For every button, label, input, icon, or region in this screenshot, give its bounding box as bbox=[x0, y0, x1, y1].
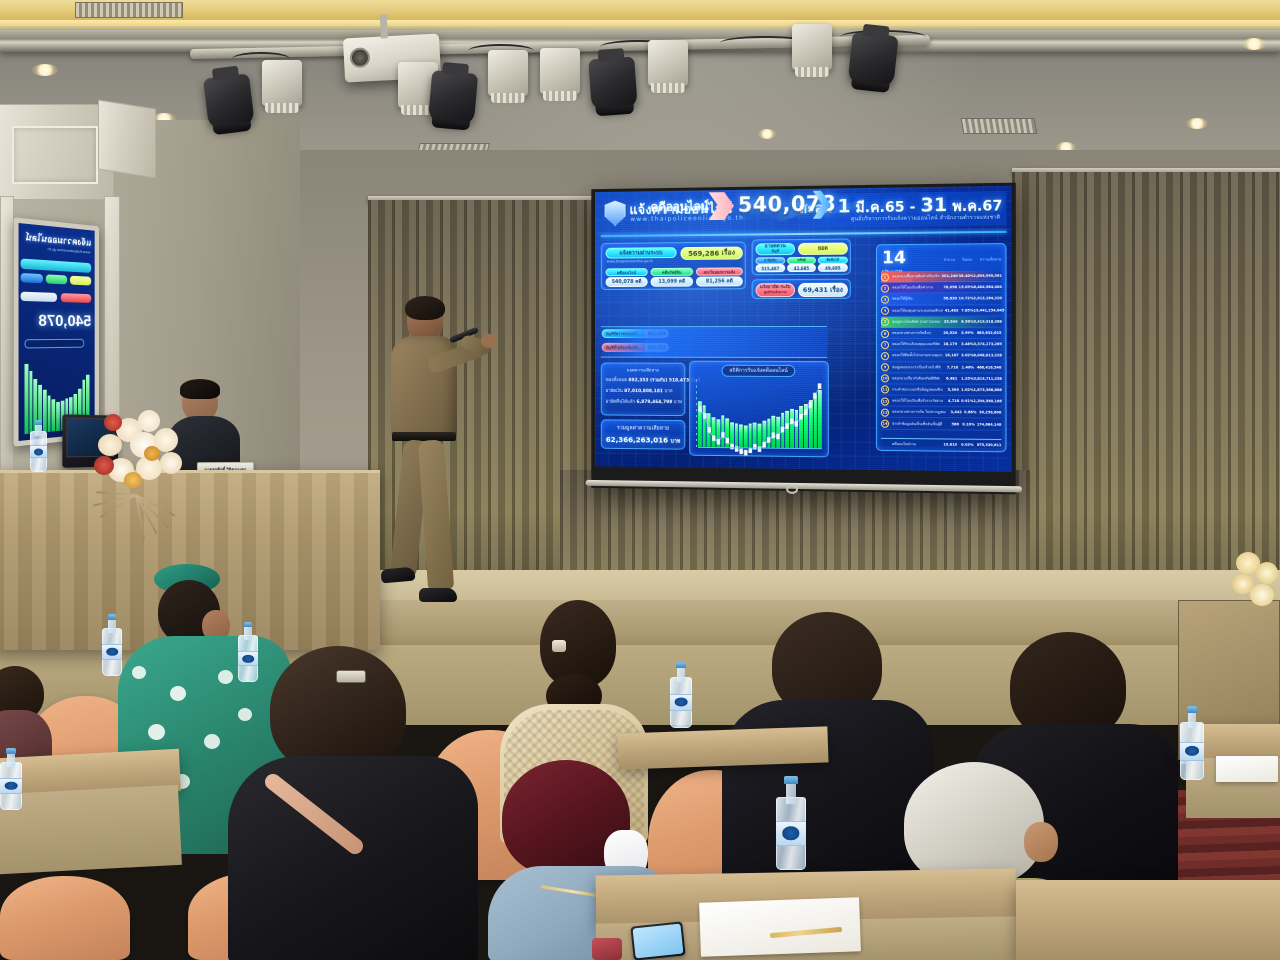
intake-sub-1-unit: คดี bbox=[679, 278, 685, 286]
bottle-cap bbox=[244, 622, 253, 627]
audience-table bbox=[617, 726, 828, 769]
bottle-logo-icon bbox=[675, 698, 688, 707]
projector-lens-icon bbox=[349, 47, 370, 68]
chart-marker bbox=[739, 449, 742, 455]
flower-petal-red bbox=[104, 414, 122, 431]
bottle-logo-icon bbox=[106, 648, 118, 656]
conference-room-scene: แจ้งความออนไลน์ www.thaipoliceonline.go.… bbox=[0, 0, 1280, 960]
chart-marker bbox=[795, 421, 798, 427]
category-count: 16,187 bbox=[943, 354, 959, 358]
category-row: 3หลอกให้กู้เงิน56,63910.72%2,013,164,220 bbox=[881, 293, 1001, 305]
dress-floral-print bbox=[132, 666, 146, 679]
summary-title: ยอดความเสียหาย bbox=[627, 367, 659, 374]
category-amount: 8,484,984,404 bbox=[974, 285, 1002, 289]
total-damage-value: 62,366,263,016 บาท bbox=[606, 435, 681, 446]
column-header-amount: ความเสียหาย bbox=[980, 256, 1001, 262]
category-row: 12หลอกให้โอนเงินเพื่อรับรางวัลผ่าน SMS4,… bbox=[881, 396, 1001, 408]
stage-light-fresnel bbox=[648, 40, 688, 86]
flower-petal-red bbox=[94, 456, 114, 475]
intake-label: แจ้งความผ่านระบบ bbox=[619, 249, 662, 257]
category-percent: 38.40% bbox=[958, 274, 974, 278]
category-amount: 90,256,608 bbox=[976, 411, 1001, 415]
category-index-badge: 14 bbox=[881, 420, 889, 428]
urgent-right-pill: ยอด bbox=[798, 243, 848, 255]
category-amount: 1,394,560,166 bbox=[974, 399, 1002, 403]
bottle-logo-icon bbox=[1185, 746, 1199, 756]
chart-marker bbox=[785, 423, 788, 429]
bottle-label bbox=[102, 644, 122, 660]
category-amount: 19,441,254,645 bbox=[974, 308, 1002, 312]
category-amount: 174,684,148 bbox=[975, 422, 1002, 426]
intake-sub-value-0: 540,078 คดี bbox=[606, 277, 648, 287]
chart-marker bbox=[790, 419, 793, 425]
category-row: 6หลอกลวงทางการเงินอื่นๆ20,5243.99%683,63… bbox=[881, 328, 1001, 339]
chart-marker bbox=[708, 427, 711, 433]
freeze-value-pill: 69,431 เรื่อง bbox=[798, 283, 848, 297]
category-name: หลอกลวงเกี่ยวกับสินทรัพย์ดิจิทัล bbox=[892, 375, 940, 381]
category-row: 13หลอกลวงทางการเงิน ไม่ปรากฏช่องทาง3,442… bbox=[881, 407, 1001, 419]
category-name: หลอกลวงซื้อขายสินค้าหรือบริการ bbox=[892, 273, 941, 279]
category-total-count: 19,819 bbox=[940, 442, 957, 446]
total-damage-number: 62,366,263,016 bbox=[606, 435, 668, 445]
category-row: 14นำเข้าข้อมูลอันเป็นเท็จอันเป็นผู้อื่น5… bbox=[881, 418, 1001, 430]
bottle-cap bbox=[676, 662, 686, 668]
urgent-row-1-label-text: ทรัพย์ bbox=[797, 258, 805, 263]
urgent-panel: อายัดด่วน บัญชี ยอด อายัดทัน 515,487 ทรั… bbox=[752, 238, 851, 275]
category-count: 6,481 bbox=[940, 376, 957, 380]
dateline-to-num: 31 bbox=[920, 194, 947, 217]
chart-marker bbox=[744, 450, 747, 456]
category-percent: 15.09% bbox=[957, 285, 973, 289]
category-percent: 6.56% bbox=[958, 320, 974, 324]
category-name: หลอกลวงทางการเงินอื่นๆ bbox=[892, 330, 940, 336]
bottle-neck bbox=[35, 423, 41, 435]
bottle-cap bbox=[35, 420, 42, 425]
category-percent: 3.48% bbox=[957, 342, 973, 346]
bottle-cap bbox=[108, 614, 117, 620]
bottle-label bbox=[30, 445, 47, 459]
summary-row-1-value: 87,010,808,181 bbox=[624, 389, 663, 394]
palm-frond bbox=[93, 494, 136, 507]
smartphone[interactable] bbox=[630, 921, 685, 960]
category-index-badge: 8 bbox=[881, 352, 889, 360]
category-index-badge: 9 bbox=[881, 363, 889, 371]
category-index-badge: 3 bbox=[881, 296, 889, 304]
bottle-label bbox=[670, 694, 692, 711]
flower-petal-yellow bbox=[124, 472, 142, 488]
category-row: 11กระทำต่อระบบหรือข้อมูลคอมพิวเตอร์5,304… bbox=[881, 384, 1001, 396]
bottle-logo-icon bbox=[782, 827, 799, 840]
chart-marker bbox=[712, 435, 715, 441]
presenter-leg-front bbox=[418, 439, 454, 590]
hair-pin-accessory bbox=[552, 640, 566, 652]
category-amount: 468,416,546 bbox=[974, 365, 1001, 369]
attendee-ear bbox=[1024, 822, 1058, 862]
summary-row-1-label: อายัดเงิน bbox=[606, 389, 623, 394]
category-index-badge: 11 bbox=[881, 386, 889, 394]
chart-marker bbox=[804, 409, 808, 415]
intake-sub-value-1: 13,099 คดี bbox=[651, 277, 694, 287]
category-percent: 10.72% bbox=[957, 297, 973, 301]
category-count: 41,483 bbox=[943, 308, 959, 312]
intake-sub-label-0: คดีออนไลน์ bbox=[606, 268, 648, 276]
urgent-row-2-value-text: 49,695 bbox=[825, 265, 840, 270]
bottle-logo-icon bbox=[34, 448, 44, 455]
category-percent: 0.66% bbox=[962, 411, 977, 415]
category-count: 566 bbox=[942, 422, 959, 426]
presenter-belt bbox=[392, 432, 456, 441]
category-total-amount: 875,330,611 bbox=[974, 443, 1002, 447]
chart-marker bbox=[767, 437, 770, 443]
headline-band bbox=[601, 326, 827, 358]
presenter-hair bbox=[405, 296, 445, 320]
chart-marker bbox=[808, 402, 812, 408]
category-row: 2หลอกให้โอนเงินเพื่อทำงาน78,09815.09%8,4… bbox=[881, 282, 1001, 294]
intake-sub-1-value: 13,099 bbox=[658, 279, 677, 285]
chart-marker bbox=[781, 427, 784, 433]
dateline-dash: - bbox=[910, 199, 916, 215]
dress-floral-print bbox=[148, 724, 165, 740]
chart-marker bbox=[698, 406, 701, 412]
audience-table-skirt bbox=[0, 785, 182, 875]
intake-url: www.thaipoliceonline.go.th bbox=[607, 259, 653, 263]
bottle-neck bbox=[108, 618, 115, 633]
summary-row-0: ของทั้งหมด 892,353 (รวมกับ) 518,473 บัญช… bbox=[606, 377, 701, 384]
water-bottle bbox=[238, 622, 258, 682]
category-name: หลอกให้กู้เงิน bbox=[892, 296, 940, 302]
ceiling-vent bbox=[961, 118, 1038, 134]
summary-row-2-unit: บาท bbox=[674, 400, 682, 405]
freeze-value: 69,431 bbox=[803, 286, 828, 294]
category-count: 56,639 bbox=[940, 297, 957, 301]
category-count: 78,098 bbox=[940, 285, 957, 289]
freeze-unit: เรื่อง bbox=[830, 285, 843, 295]
stage-light-fresnel bbox=[262, 60, 302, 106]
chart-marker bbox=[721, 432, 724, 438]
category-name: ข่มขู่ทางโทรศัพท์ (Call Center) bbox=[892, 319, 941, 325]
category-amount: 2,013,164,220 bbox=[974, 297, 1002, 301]
water-bottle bbox=[1180, 706, 1204, 780]
presentation-slide: แจ้งความออนไลน์ www.thaipoliceonline.go.… bbox=[595, 186, 1012, 472]
intake-value: 569,286 bbox=[688, 249, 719, 257]
red-case-item bbox=[592, 938, 622, 960]
bottle-neck bbox=[7, 752, 15, 767]
chart-marker-line bbox=[698, 380, 822, 472]
flower-petal bbox=[138, 410, 160, 432]
chart-marker bbox=[703, 413, 706, 419]
category-row: 8หลอกให้ติดตั้งโปรแกรมควบคุมระบบ16,1873.… bbox=[881, 350, 1001, 362]
head-table-attendee-hair bbox=[180, 379, 220, 399]
police-shield-icon bbox=[605, 200, 626, 226]
urgent-label-pill: อายัดด่วน บัญชี bbox=[756, 243, 795, 255]
urgent-row-2-value: 49,695 bbox=[818, 264, 848, 272]
urgent-row-0-value: 515,487 bbox=[756, 264, 786, 272]
slide-subline: ศูนย์บริหารการรับแจ้งความออนไลน์ สำนักงา… bbox=[851, 214, 1000, 224]
stage-light-par bbox=[588, 56, 638, 111]
category-name: นำเข้าข้อมูลอันเป็นเท็จอันเป็นผู้อื่น bbox=[892, 420, 942, 426]
column-header-pct: ร้อยละ bbox=[962, 257, 973, 263]
stage-light-par bbox=[428, 70, 478, 126]
category-count: 7,718 bbox=[941, 365, 958, 369]
water-bottle bbox=[30, 420, 47, 472]
dress-floral-print bbox=[170, 686, 186, 701]
audience-chair[interactable] bbox=[0, 876, 130, 960]
bottle-label bbox=[1180, 742, 1204, 761]
category-total-label: คดีออนไลน์รวม bbox=[892, 441, 940, 448]
stage-light-par bbox=[203, 73, 255, 130]
bottle-label bbox=[776, 821, 806, 845]
intake-sub-0-unit: คดี bbox=[635, 278, 641, 286]
category-total-row: คดีออนไลน์รวม 19,819 0.03% 875,330,611 bbox=[881, 438, 1001, 450]
dress-floral-print bbox=[204, 734, 220, 749]
category-amount: 683,632,625 bbox=[974, 331, 1002, 335]
category-percent: 7.85% bbox=[959, 308, 974, 312]
category-percent: 0.10% bbox=[959, 422, 975, 426]
downlight bbox=[758, 129, 776, 139]
category-rows: 1หลอกลวงซื้อขายสินค้าหรือบริการ201,24038… bbox=[881, 271, 1001, 437]
downlight bbox=[1242, 38, 1266, 50]
chart-marker bbox=[813, 393, 817, 399]
intake-value-pill: 569,286 เรื่อง bbox=[680, 247, 742, 260]
flower-petal bbox=[98, 434, 122, 456]
category-index-badge: 10 bbox=[881, 375, 889, 383]
intake-sub-label-1: คดีทรัพย์สิน bbox=[651, 268, 694, 276]
intake-sub-2-label: ยกเว้นนอกการแจ้ง bbox=[704, 268, 736, 275]
bottle-label bbox=[0, 778, 22, 794]
water-bottle bbox=[102, 614, 122, 676]
category-count: 35,549 bbox=[941, 320, 958, 324]
bottle-logo-icon bbox=[5, 782, 18, 790]
summary-row-2-value: 6,879,464,798 bbox=[637, 400, 673, 405]
intake-sub-0-value: 540,078 bbox=[612, 279, 634, 285]
attendee-hair bbox=[270, 646, 406, 774]
chart-marker bbox=[818, 383, 822, 389]
category-amount: 8,048,813,228 bbox=[974, 354, 1002, 358]
category-amount: 3,374,173,289 bbox=[974, 342, 1002, 346]
wall-column-return bbox=[98, 99, 156, 178]
stage-light-fresnel bbox=[488, 50, 528, 96]
category-percent: 1.46% bbox=[958, 365, 974, 369]
bottle-neck bbox=[244, 626, 251, 640]
urgent-row-0-label-text: อายัดทัน bbox=[764, 258, 777, 263]
category-index-badge: 12 bbox=[881, 397, 889, 405]
category-name: หลอกให้ติดตั้งโปรแกรมควบคุมระบบ bbox=[892, 353, 943, 359]
bottle-neck bbox=[1188, 710, 1197, 728]
flower-petal-yellow bbox=[144, 446, 160, 461]
wall-column-shaft bbox=[0, 196, 14, 496]
water-bottle bbox=[670, 662, 692, 728]
chart-y-axis bbox=[696, 380, 697, 447]
category-name: หลอกลวงทางการเงิน ไม่ปรากฏช่องทาง bbox=[892, 409, 946, 415]
category-index-badge: 6 bbox=[881, 329, 889, 337]
category-index-badge: 7 bbox=[881, 341, 889, 349]
intake-sub-2-value: 81,256 bbox=[706, 278, 725, 284]
category-row: 9ข่มขู่หลอกลวงว่าเป็นเจ้าหน้าที่รัฐ7,718… bbox=[881, 362, 1001, 374]
downlight bbox=[32, 64, 58, 76]
category-percent: 1.02% bbox=[959, 388, 974, 392]
category-amount: 5,419,916,368 bbox=[974, 319, 1002, 323]
intake-label-pill: แจ้งความผ่านระบบ bbox=[606, 247, 677, 258]
urgent-sub-label: บัญชี bbox=[771, 250, 779, 254]
stage-light-fresnel bbox=[540, 48, 580, 94]
intake-panel: แจ้งความผ่านระบบ www.thaipoliceonline.go… bbox=[601, 242, 746, 290]
dateline-from-num: 1 bbox=[837, 195, 850, 217]
category-name: กระทำต่อระบบหรือข้อมูลคอมพิวเตอร์ bbox=[892, 386, 943, 392]
downlight bbox=[1186, 118, 1208, 129]
urgent-right-label: ยอด bbox=[818, 245, 828, 253]
chart-marker bbox=[799, 414, 802, 420]
category-index-badge: 4 bbox=[881, 307, 889, 315]
category-percent: 0.91% bbox=[959, 399, 973, 403]
chart-title: สถิติการรับแจ้งคดีออนไลน์ bbox=[722, 365, 796, 377]
summary-row-2: อายัดคืนได้แล้ว 6,879,464,798 บาท bbox=[606, 399, 682, 406]
chart-plot-area bbox=[698, 380, 822, 449]
chart-marker bbox=[762, 442, 765, 448]
category-row: 7หลอกให้รักแล้วลงทุนแบบบริษัท18,1793.48%… bbox=[881, 339, 1001, 350]
category-table-panel: 14 ประเภท คดีออนไลน์ จำนวน ร้อยละ ความเส… bbox=[876, 243, 1007, 452]
summary-row-1: อายัดเงิน 87,010,808,181 บาท bbox=[606, 388, 673, 395]
category-percent: 1.25% bbox=[957, 376, 973, 380]
freeze-panel: แจ้งอายัด-ระงับ ศูนย์รับแจ้งความ 69,431 … bbox=[752, 279, 851, 300]
hair-clip-accessory bbox=[336, 670, 366, 683]
category-count: 201,240 bbox=[941, 274, 958, 278]
mirror-headline-number: 540,078 bbox=[38, 313, 91, 331]
urgent-row-2-label-text: ยึดคืนได้ bbox=[826, 258, 839, 263]
chart-marker bbox=[772, 432, 775, 438]
category-count: 3,442 bbox=[946, 410, 962, 414]
total-damage-label: รวมมูลค่าความเสียหาย bbox=[617, 424, 669, 432]
presenter-police-officer bbox=[375, 300, 495, 630]
column-header-count: จำนวน bbox=[944, 257, 955, 263]
water-bottle bbox=[0, 748, 22, 810]
headline-label: คดีออนไลน์ bbox=[651, 197, 709, 217]
bottle-logo-icon bbox=[242, 655, 254, 663]
category-amount: 1,804,990,961 bbox=[974, 274, 1002, 278]
intake-sub-2-unit: คดี bbox=[726, 277, 732, 285]
total-damage-unit: บาท bbox=[671, 439, 681, 445]
phone-screen[interactable] bbox=[633, 924, 684, 959]
water-bottle bbox=[776, 776, 806, 870]
wall-display-content: แจ้งความออนไลน์ www.thaipoliceonline.go.… bbox=[19, 223, 95, 441]
category-total-pct: 0.03% bbox=[957, 443, 973, 447]
category-percent: 3.02% bbox=[959, 354, 974, 358]
freeze-label-pill: แจ้งอายัด-ระงับ ศูนย์รับแจ้งความ bbox=[756, 283, 795, 297]
presenter-shoe-front bbox=[419, 588, 457, 602]
screen-frame: แจ้งความออนไลน์ www.thaipoliceonline.go.… bbox=[591, 183, 1016, 495]
wall-panel-inset bbox=[12, 126, 98, 184]
category-row: 5ข่มขู่ทางโทรศัพท์ (Call Center)35,5496.… bbox=[881, 316, 1001, 328]
category-index-badge: 5 bbox=[881, 318, 889, 326]
category-column-headers: จำนวน ร้อยละ ความเสียหาย bbox=[944, 256, 1002, 263]
attendee-silver-hair bbox=[904, 762, 1044, 886]
chart-panel: สถิติการรับแจ้งคดีออนไลน์ bbox=[689, 361, 829, 458]
category-amount: 1,873,366,886 bbox=[974, 388, 1002, 392]
category-amount: 3,814,711,258 bbox=[974, 376, 1002, 380]
summary-row-1-unit: บาท bbox=[664, 389, 672, 394]
category-row: 1หลอกลวงซื้อขายสินค้าหรือบริการ201,24038… bbox=[881, 271, 1001, 283]
flower-petal-yellow bbox=[1250, 584, 1274, 606]
category-index-badge: 2 bbox=[881, 284, 889, 292]
ceiling-vent bbox=[75, 2, 183, 18]
summary-row-2-label: อายัดคืนได้แล้ว bbox=[606, 400, 636, 405]
intake-sub-label-2: ยกเว้นนอกการแจ้ง bbox=[696, 267, 743, 275]
chart-marker bbox=[717, 439, 720, 445]
category-percent: 3.99% bbox=[957, 331, 973, 335]
bottle-neck bbox=[786, 782, 797, 805]
projection-screen: แจ้งความออนไลน์ www.thaipoliceonline.go.… bbox=[591, 183, 1016, 495]
category-row: 4หลอกให้ลงทุนผ่านระบบคอมพิวเตอร์41,4837.… bbox=[881, 305, 1001, 317]
category-index-badge: 1 bbox=[881, 273, 889, 281]
bottle-label bbox=[238, 651, 258, 667]
bottle-cap bbox=[1187, 706, 1198, 713]
summary-row-0-label: ของทั้งหมด bbox=[606, 378, 627, 383]
chart-marker bbox=[776, 434, 779, 440]
front-audience-table-right bbox=[1016, 880, 1280, 960]
flower-petal-yellow bbox=[1256, 562, 1278, 584]
category-count: 18,179 bbox=[940, 342, 957, 346]
urgent-row-1-value-text: 42,685 bbox=[794, 265, 809, 270]
attendee-dark-blazer bbox=[228, 646, 488, 960]
flower-arrangement bbox=[86, 400, 206, 530]
bottle-cap bbox=[6, 748, 16, 754]
chart-marker bbox=[726, 438, 729, 444]
notepad bbox=[1216, 756, 1278, 782]
category-count: 5,304 bbox=[943, 388, 959, 392]
intake-unit: เรื่อง bbox=[722, 248, 735, 259]
urgent-row-0-value-text: 515,487 bbox=[761, 266, 779, 271]
total-damage-panel: รวมมูลค่าความเสียหาย 62,366,263,016 บาท bbox=[601, 419, 686, 449]
freeze-sub: ศูนย์รับแจ้งความ bbox=[764, 291, 787, 294]
category-name: หลอกให้ลงทุนผ่านระบบคอมพิวเตอร์ bbox=[892, 307, 943, 313]
category-name: ข่มขู่หลอกลวงว่าเป็นเจ้าหน้าที่รัฐ bbox=[892, 364, 941, 370]
category-name: หลอกให้โอนเงินเพื่อรับรางวัลผ่าน SMS bbox=[892, 398, 944, 404]
bottle-cap bbox=[784, 776, 797, 784]
category-row: 10หลอกลวงเกี่ยวกับสินทรัพย์ดิจิทัล6,4811… bbox=[881, 373, 1001, 385]
screen-pull-ring-icon bbox=[786, 485, 798, 494]
flower-petal bbox=[160, 452, 182, 474]
summary-panel: ยอดความเสียหาย ของทั้งหมด 892,353 (รวมกั… bbox=[601, 363, 686, 417]
intake-sub-0-label: คดีออนไลน์ bbox=[617, 269, 636, 276]
intake-sub-1-label: คดีทรัพย์สิน bbox=[662, 268, 682, 275]
presenter-hand bbox=[481, 334, 497, 348]
category-name: หลอกให้รักแล้วลงทุนแบบบริษัท bbox=[892, 341, 940, 347]
side-flower-arrangement bbox=[1228, 548, 1280, 618]
intake-sub-value-2: 81,256 คดี bbox=[696, 276, 743, 286]
category-index-badge: 13 bbox=[881, 408, 889, 416]
palm-frond bbox=[96, 491, 136, 496]
category-count: 4,718 bbox=[944, 399, 959, 403]
stage-light-par bbox=[847, 32, 898, 89]
urgent-row-1-value: 42,685 bbox=[787, 264, 816, 272]
category-count: 20,524 bbox=[940, 331, 957, 335]
presenter-shoe-back bbox=[380, 567, 415, 584]
category-name: หลอกให้โอนเงินเพื่อทำงาน bbox=[892, 285, 940, 291]
bottle-neck bbox=[677, 666, 685, 682]
stage-light-fresnel bbox=[792, 24, 832, 70]
